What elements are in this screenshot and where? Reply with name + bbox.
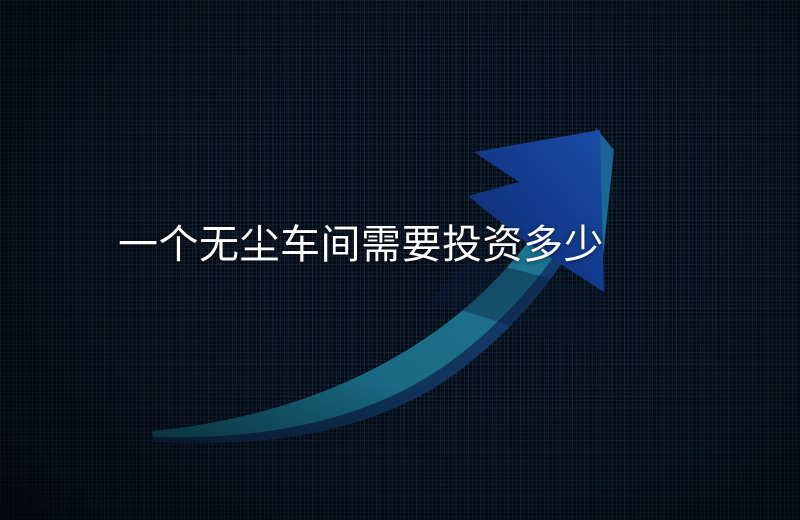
page-title: 一个无尘车间需要投资多少 — [118, 217, 604, 273]
banner-root: 一个无尘车间需要投资多少 — [0, 0, 800, 520]
